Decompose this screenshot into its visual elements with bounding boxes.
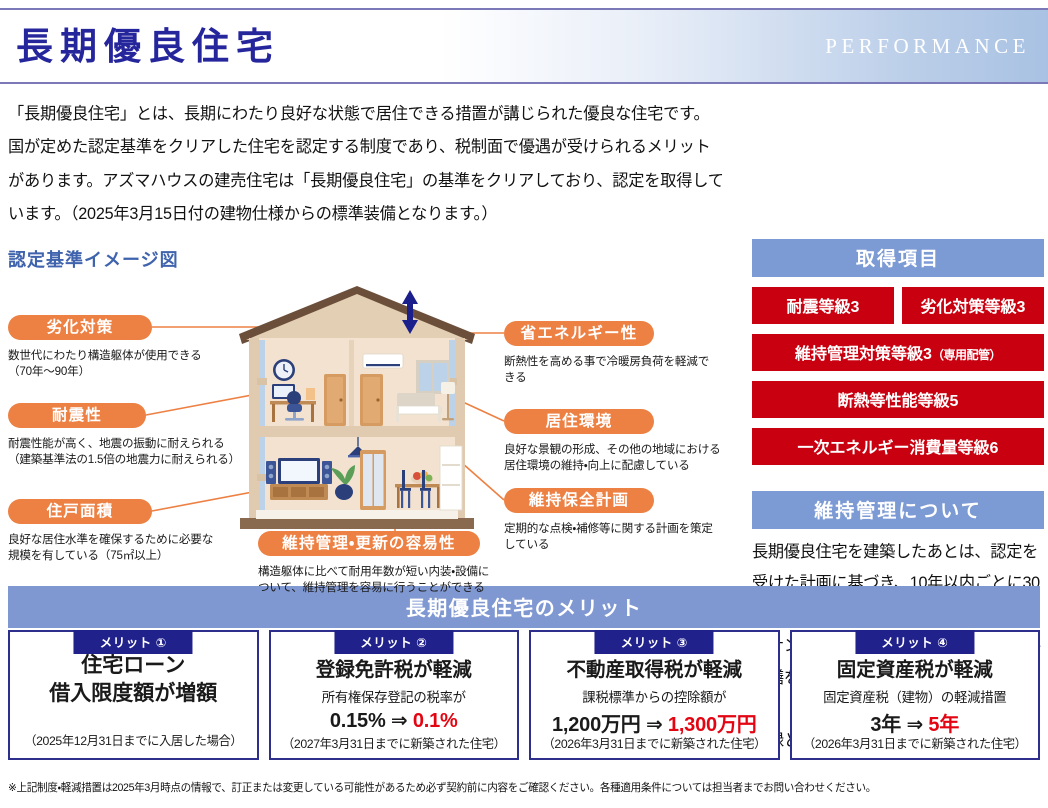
desc-line: している (504, 537, 744, 554)
diagram-desc-living-environment: 良好な景観の形成、その他の地域における 居住環境の維持・向上に配慮している (504, 442, 744, 476)
diagram-desc-maintenance-ease: 構造躯体に比べて耐用年数が短い内装・設備に ついて、維持管理を容易に行うことがで… (258, 564, 528, 598)
merit-value-before: 3年 (870, 714, 901, 736)
acquired-badge-row: 耐震等級3 劣化対策等級3 (752, 287, 1044, 324)
diagram-desc-energy-saving: 断熱性を高める事で冷暖房負荷を軽減で きる (504, 354, 740, 388)
header-subtitle: PERFORMANCE (825, 34, 1048, 59)
acquired-badge-row: 維持管理対策等級3（専用配管） (752, 334, 1044, 371)
desc-line: （建築基準法の1.5倍の地震力に耐えられる） (8, 452, 258, 469)
desc-line: 良好な景観の形成、その他の地域における (504, 442, 744, 459)
diagram-pill-energy-saving: 省エネルギー性 (504, 321, 654, 346)
merit-tab-1: メリット ① (74, 630, 193, 654)
desc-line: 断熱性を高める事で冷暖房負荷を軽減で (504, 354, 740, 371)
merit-tab-3: メリット ③ (595, 630, 714, 654)
badge-seismic-grade: 耐震等級3 (752, 287, 894, 324)
diagram-section-title: 認定基準イメージ図 (8, 246, 748, 272)
merit-sub-4: 固定資産税（建物）の軽減措置 (792, 686, 1039, 706)
intro-line-2: 国が定めた認定基準をクリアした住宅を認定する制度であり、税制面で優遇が受けられる… (8, 131, 726, 164)
merit-note-4: （2026年3月31日までに新築された住宅） (792, 734, 1039, 752)
merit-value-4: 3年 ⇒ 5年 (792, 708, 1039, 737)
diagram-pill-deterioration: 劣化対策 (8, 315, 152, 340)
desc-line: 数世代にわたり構造躯体が使用できる (8, 348, 238, 365)
house-cutaway-illustration (232, 278, 482, 538)
intro-paragraph: 「長期優良住宅」とは、長期にわたり良好な状態で居住できる措置が講じられた優良な住… (8, 98, 726, 232)
badge-maintenance-grade: 維持管理対策等級3（専用配管） (752, 334, 1044, 371)
desc-line: （70年〜90年） (8, 364, 238, 381)
merit-tab-2: メリット ② (334, 630, 453, 654)
merit-value-arrow: ⇒ (901, 714, 928, 736)
diagram-pill-living-environment: 居住環境 (504, 409, 654, 434)
intro-line-4: います。（2025年3月15日付の建物仕様からの標準装備となります。） (8, 198, 726, 231)
merit-card-2: メリット ② 登録免許税が軽減 所有権保存登記の税率が 0.15% ⇒ 0.1%… (269, 630, 520, 760)
merit-value-3: 1,200万円 ⇒ 1,300万円 (531, 708, 778, 737)
maintenance-panel-title: 維持管理について (752, 491, 1044, 529)
merit-note-3: （2026年3月31日までに新築された住宅） (531, 734, 778, 752)
merit-card-4: メリット ④ 固定資産税が軽減 固定資産税（建物）の軽減措置 3年 ⇒ 5年 （… (790, 630, 1041, 760)
maintenance-line: 長期優良住宅を建築したあとは、認定を (752, 537, 1044, 569)
merit-title-line: 住宅ローン (10, 652, 257, 680)
merit-card-3: メリット ③ 不動産取得税が軽減 課税標準からの控除額が 1,200万円 ⇒ 1… (529, 630, 780, 760)
merit-value-after: 1,300万円 (668, 714, 757, 736)
certification-diagram: 劣化対策 数世代にわたり構造躯体が使用できる （70年〜90年） 耐震性 耐震性… (0, 278, 748, 588)
merit-value-before: 0.15% (330, 710, 386, 732)
desc-line: ついて、維持管理を容易に行うことができる (258, 580, 528, 597)
badge-deterioration-grade: 劣化対策等級3 (902, 287, 1044, 324)
merit-title-1: 住宅ローン 借入限度額が増額 (10, 652, 257, 707)
acquired-badge-row: 断熱等性能等級5 (752, 381, 1044, 418)
page-title: 長期優良住宅 (0, 28, 280, 65)
merit-value-arrow: ⇒ (386, 710, 413, 732)
merit-tab-4: メリット ④ (855, 630, 974, 654)
merit-card-1: メリット ① 住宅ローン 借入限度額が増額 （2025年12月31日までに入居し… (8, 630, 259, 760)
badge-primary-energy-grade: 一次エネルギー消費量等級6 (752, 428, 1044, 465)
intro-line-1: 「長期優良住宅」とは、長期にわたり良好な状態で居住できる措置が講じられた優良な住… (8, 98, 726, 131)
acquired-badge-row: 一次エネルギー消費量等級6 (752, 428, 1044, 465)
desc-line: 定期的な点検・補修等に関する計画を策定 (504, 521, 744, 538)
acquired-panel-title: 取得項目 (752, 239, 1044, 277)
desc-line: 規模を有している（75㎡以上） (8, 548, 248, 565)
merit-title-3: 不動産取得税が軽減 (531, 658, 778, 683)
diagram-pill-maintenance-plan: 維持保全計画 (504, 488, 654, 513)
desc-line: 構造躯体に比べて耐用年数が短い内装・設備に (258, 564, 528, 581)
merit-title-4: 固定資産税が軽減 (792, 658, 1039, 683)
badge-label: 維持管理対策等級3 (795, 346, 932, 363)
footer-disclaimer: ※上記制度・軽減措置は2025年3月時点の情報で、訂正または変更している可能性が… (8, 780, 1040, 795)
merit-sub-2: 所有権保存登記の税率が (271, 686, 518, 706)
merit-title-line: 借入限度額が増額 (10, 680, 257, 708)
desc-line: 耐震性能が高く、地震の振動に耐えられる (8, 436, 258, 453)
merit-value-after: 5年 (928, 714, 959, 736)
merit-title-2: 登録免許税が軽減 (271, 658, 518, 683)
merit-value-before: 1,200万円 (552, 714, 641, 736)
badge-insulation-grade: 断熱等性能等級5 (752, 381, 1044, 418)
page-header: 長期優良住宅 PERFORMANCE (0, 8, 1048, 84)
merit-note-2: （2027年3月31日までに新築された住宅） (271, 734, 518, 752)
desc-line: 居住環境の維持・向上に配慮している (504, 458, 744, 475)
merit-note-1: （2025年12月31日までに入居した場合） (10, 731, 257, 749)
merit-value-arrow: ⇒ (641, 714, 668, 736)
badge-note: （専用配管） (932, 348, 1001, 362)
diagram-desc-deterioration: 数世代にわたり構造躯体が使用できる （70年〜90年） (8, 348, 238, 382)
diagram-desc-maintenance-plan: 定期的な点検・補修等に関する計画を策定 している (504, 521, 744, 555)
merit-value-2: 0.15% ⇒ 0.1% (271, 708, 518, 733)
desc-line: きる (504, 370, 740, 387)
diagram-pill-floor-area: 住戸面積 (8, 499, 152, 524)
intro-line-3: があります。アズマハウスの建売住宅は「長期優良住宅」の基準をクリアしており、認定… (8, 165, 726, 198)
desc-line: 良好な居住水準を確保するために必要な (8, 532, 248, 549)
diagram-desc-earthquake: 耐震性能が高く、地震の振動に耐えられる （建築基準法の1.5倍の地震力に耐えられ… (8, 436, 258, 470)
diagram-desc-floor-area: 良好な居住水準を確保するために必要な 規模を有している（75㎡以上） (8, 532, 248, 566)
diagram-pill-maintenance-ease: 維持管理・更新の容易性 (258, 531, 480, 556)
diagram-pill-earthquake: 耐震性 (8, 403, 146, 428)
merit-sub-3: 課税標準からの控除額が (531, 686, 778, 706)
merits-row: メリット ① 住宅ローン 借入限度額が増額 （2025年12月31日までに入居し… (8, 630, 1040, 760)
merit-value-after: 0.1% (413, 710, 458, 732)
